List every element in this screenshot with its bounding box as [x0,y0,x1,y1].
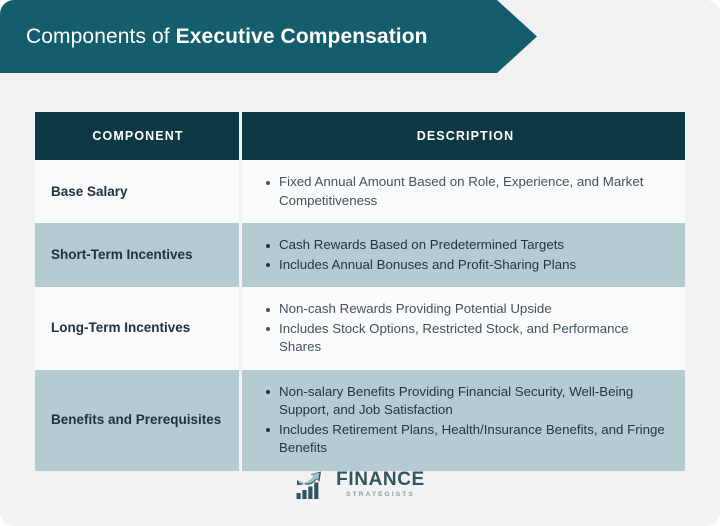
description-bullet-list: Non-salary Benefits Providing Financial … [262,383,669,458]
list-item: Fixed Annual Amount Based on Role, Exper… [279,173,669,210]
table-header-row: COMPONENT DESCRIPTION [35,112,685,160]
table-row: Short-Term Incentives Cash Rewards Based… [35,223,685,287]
list-item: Cash Rewards Based on Predetermined Targ… [279,236,576,255]
table-row: Long-Term Incentives Non-cash Rewards Pr… [35,287,685,370]
brand-logo-text: FINANCE STRATEGISTS [336,470,425,500]
component-name: Short-Term Incentives [51,246,193,264]
description-bullet-list: Cash Rewards Based on Predetermined Targ… [262,236,576,274]
infographic-card: Components of Executive Compensation COM… [0,0,720,526]
list-item: Includes Stock Options, Restricted Stock… [279,320,669,357]
column-header-component: COMPONENT [35,112,239,160]
column-header-description: DESCRIPTION [242,112,685,160]
column-header-description-label: DESCRIPTION [417,129,515,143]
finance-chart-arrow-icon [295,470,329,500]
row-description-cell: Non-cash Rewards Providing Potential Ups… [242,287,685,370]
column-header-component-label: COMPONENT [92,129,183,143]
table-row: Benefits and Prerequisites Non-salary Be… [35,370,685,471]
header-banner: Components of Executive Compensation [0,0,540,73]
description-bullet-list: Fixed Annual Amount Based on Role, Exper… [262,173,669,210]
list-item: Non-salary Benefits Providing Financial … [279,383,669,420]
row-description-cell: Fixed Annual Amount Based on Role, Exper… [242,160,685,223]
component-name: Long-Term Incentives [51,319,190,337]
header-banner-shape: Components of Executive Compensation [0,0,540,73]
brand-logo: FINANCE STRATEGISTS [0,470,720,500]
page-title: Components of Executive Compensation [0,24,428,50]
brand-name: FINANCE [336,470,425,489]
components-table: COMPONENT DESCRIPTION Base Salary Fixed … [35,112,685,471]
list-item: Includes Retirement Plans, Health/Insura… [279,421,669,458]
component-name: Base Salary [51,183,128,201]
list-item: Non-cash Rewards Providing Potential Ups… [279,300,669,319]
description-bullet-list: Non-cash Rewards Providing Potential Ups… [262,300,669,357]
page-title-plain: Components of [26,25,176,48]
row-component-cell: Long-Term Incentives [35,287,239,370]
row-component-cell: Benefits and Prerequisites [35,370,239,471]
row-description-cell: Cash Rewards Based on Predetermined Targ… [242,223,685,287]
component-name: Benefits and Prerequisites [51,411,221,429]
row-component-cell: Short-Term Incentives [35,223,239,287]
row-description-cell: Non-salary Benefits Providing Financial … [242,370,685,471]
brand-tagline: STRATEGISTS [336,490,425,500]
page-title-emphasis: Executive Compensation [176,25,428,48]
table-row: Base Salary Fixed Annual Amount Based on… [35,160,685,223]
list-item: Includes Annual Bonuses and Profit-Shari… [279,256,576,275]
row-component-cell: Base Salary [35,160,239,223]
